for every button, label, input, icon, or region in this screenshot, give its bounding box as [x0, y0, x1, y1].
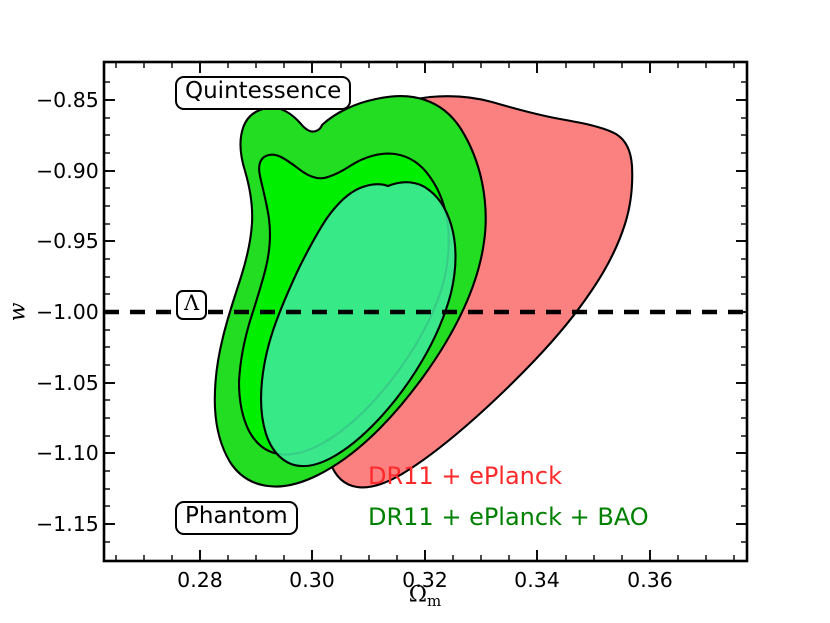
xtick-label-0: 0.28	[177, 568, 223, 592]
ytick-label-2: −0.95	[36, 229, 92, 253]
xtick-label-3: 0.34	[514, 568, 560, 592]
ytick-label-6: −1.15	[36, 512, 92, 536]
legend-entry-dr11-eplanck: DR11 + ePlanck	[368, 462, 562, 490]
ytick-label-4: −1.05	[36, 371, 92, 395]
annotation-phantom: Phantom	[175, 501, 298, 535]
ytick-label-3: −1.00	[36, 300, 92, 324]
ytick-label-5: −1.10	[36, 441, 92, 465]
x-axis-title-subscript: m	[427, 592, 441, 610]
figure-canvas: −0.85 −0.90 −0.95 −1.00 −1.05 −1.10 −1.1…	[0, 0, 830, 623]
ytick-label-1: −0.90	[36, 159, 92, 183]
x-axis-title: Ωm	[409, 582, 441, 610]
y-axis-title: w	[6, 303, 31, 322]
x-axis-title-main: Ω	[409, 582, 427, 607]
legend-entry-dr11-eplanck-bao: DR11 + ePlanck + BAO	[368, 503, 649, 531]
xtick-label-1: 0.30	[289, 568, 335, 592]
ytick-label-0: −0.85	[36, 88, 92, 112]
xtick-label-4: 0.36	[627, 568, 673, 592]
annotation-lambda: Λ	[176, 290, 207, 320]
annotation-quintessence: Quintessence	[175, 76, 351, 110]
